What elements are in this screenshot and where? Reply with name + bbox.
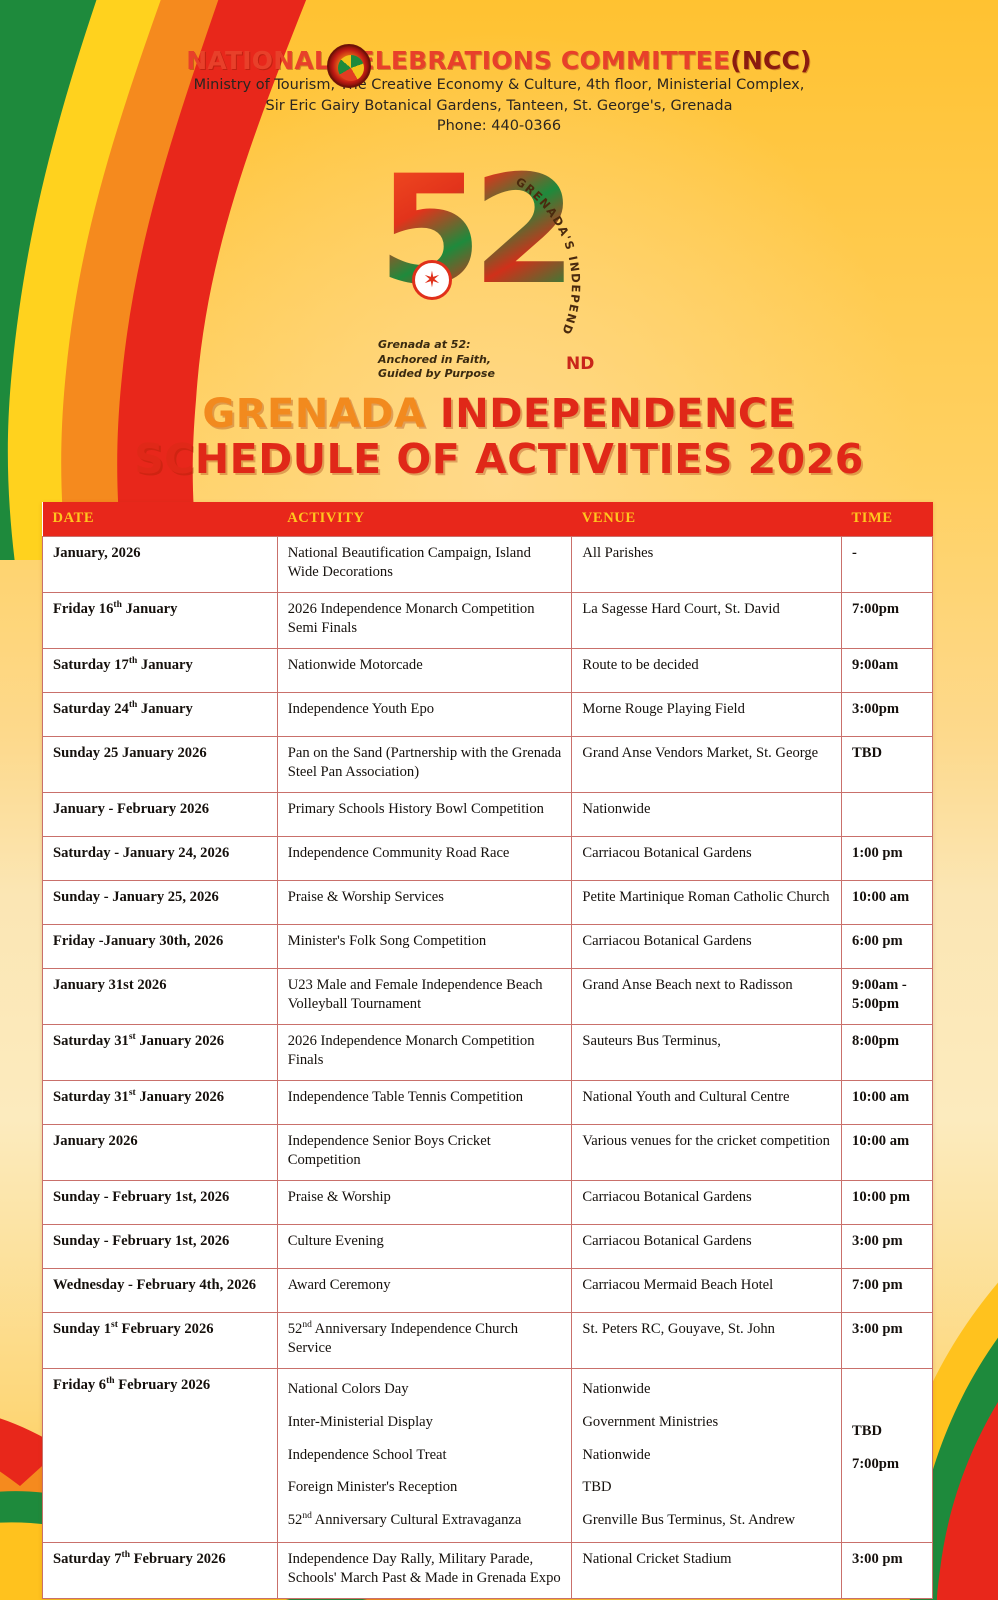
cell-activity: 2026 Independence Monarch Competition Se… — [277, 592, 572, 648]
cell-date: Sunday - January 25, 2026 — [43, 880, 278, 924]
table-row: Sunday - February 1st, 2026Praise & Wors… — [43, 1180, 933, 1224]
column-header-venue: VENUE — [572, 502, 842, 537]
cell-date: Saturday - January 24, 2026 — [43, 836, 278, 880]
venue-item: TBD — [582, 1474, 831, 1507]
cell-time: 6:00 pm — [842, 924, 933, 968]
cell-time: TBD — [842, 736, 933, 792]
cell-venue: All Parishes — [572, 537, 842, 593]
cell-time: 10:00 pm — [842, 1180, 933, 1224]
logo-ordinal: ND — [566, 354, 594, 374]
table-header-row: DATE ACTIVITY VENUE TIME — [43, 502, 933, 537]
table-row-grouped: Friday 6th February 2026National Colors … — [43, 1368, 933, 1543]
cell-activity: Independence Youth Epo — [277, 692, 572, 736]
cell-date: January, 2026 — [43, 537, 278, 593]
date-superscript: th — [113, 600, 121, 610]
cell-venue: Morne Rouge Playing Field — [572, 692, 842, 736]
table-row: Sunday 1st February 202652nd Anniversary… — [43, 1312, 933, 1368]
address-line-1: Ministry of Tourism, The Creative Econom… — [0, 75, 998, 96]
cell-venue: St. Peters RC, Gouyave, St. John — [572, 1312, 842, 1368]
cell-venue: Carriacou Botanical Gardens — [572, 1180, 842, 1224]
anniversary-logo: 52 ✶ GRENADA'S INDEPENDENCE ND Grenada a… — [370, 162, 632, 394]
cell-date: January 31st 2026 — [43, 968, 278, 1024]
cell-date: Saturday 24th January — [43, 692, 278, 736]
venue-item: Government Ministries — [582, 1409, 831, 1442]
cell-date: Sunday 1st February 2026 — [43, 1312, 278, 1368]
activity-item: 52nd Anniversary Cultural Extravaganza — [288, 1507, 562, 1532]
table-row: Saturday 7th February 2026Independence D… — [43, 1543, 933, 1599]
cell-date: Friday 16th January — [43, 592, 278, 648]
ncc-seal-icon — [327, 44, 371, 88]
time-item: 7:00pm — [852, 1451, 922, 1476]
cell-venue: Route to be decided — [572, 648, 842, 692]
logo-tagline: Grenada at 52: Anchored in Faith, Guided… — [378, 338, 498, 382]
table-row: Saturday 17th JanuaryNationwide Motorcad… — [43, 648, 933, 692]
cell-time: - — [842, 537, 933, 593]
table-row: Sunday - February 1st, 2026Culture Eveni… — [43, 1224, 933, 1268]
svg-text:GRENADA'S INDEPENDENCE: GRENADA'S INDEPENDENCE — [506, 168, 583, 337]
activity-item: Independence School Treat — [288, 1442, 562, 1475]
cell-activity: Primary Schools History Bowl Competition — [277, 792, 572, 836]
cell-activity-group: National Colors DayInter-Ministerial Dis… — [277, 1368, 572, 1543]
date-superscript: st — [111, 1320, 118, 1330]
cell-time: 9:00am — [842, 648, 933, 692]
cell-activity: 52nd Anniversary Independence Church Ser… — [277, 1312, 572, 1368]
cell-venue: Carriacou Botanical Gardens — [572, 836, 842, 880]
address-line-2: Sir Eric Gairy Botanical Gardens, Tantee… — [0, 96, 998, 117]
cell-venue: Various venues for the cricket competiti… — [572, 1124, 842, 1180]
date-superscript: st — [129, 1088, 136, 1098]
cell-venue-group: NationwideGovernment MinistriesNationwid… — [572, 1368, 842, 1543]
cell-venue: Petite Martinique Roman Catholic Church — [572, 880, 842, 924]
cell-time: 3:00 pm — [842, 1543, 933, 1599]
cell-venue: National Cricket Stadium — [572, 1543, 842, 1599]
cell-activity: National Beautification Campaign, Island… — [277, 537, 572, 593]
title-independence: INDEPENDENCE — [440, 391, 796, 437]
cell-date: Saturday 17th January — [43, 648, 278, 692]
date-superscript: st — [129, 1032, 136, 1042]
committee-title: NATIONAL CELEBRATIONS COMMITTEE(NCC) — [186, 46, 811, 75]
cell-venue: La Sagesse Hard Court, St. David — [572, 592, 842, 648]
venue-item: Nationwide — [582, 1376, 831, 1409]
cell-date: Saturday 31st January 2026 — [43, 1024, 278, 1080]
table-row: Saturday 31st January 2026Independence T… — [43, 1080, 933, 1124]
cell-date: January 2026 — [43, 1124, 278, 1180]
cell-time: 1:00 pm — [842, 836, 933, 880]
tagline-line-2: Anchored in Faith, — [378, 353, 498, 368]
cell-date: Saturday 31st January 2026 — [43, 1080, 278, 1124]
cell-venue: National Youth and Cultural Centre — [572, 1080, 842, 1124]
poster-header: NATIONAL CELEBRATIONS COMMITTEE(NCC) Min… — [0, 46, 998, 137]
arc-label: GRENADA'S INDEPENDENCE — [506, 168, 583, 337]
cell-venue: Carriacou Mermaid Beach Hotel — [572, 1268, 842, 1312]
date-superscript: th — [122, 1551, 130, 1561]
phone-line: Phone: 440-0366 — [0, 116, 998, 137]
cell-time: 9:00am - 5:00pm — [842, 968, 933, 1024]
date-superscript: th — [129, 700, 137, 710]
cell-date: Friday 6th February 2026 — [43, 1368, 278, 1543]
cell-venue: Carriacou Botanical Gardens — [572, 1224, 842, 1268]
table-row: January 31st 2026U23 Male and Female Ind… — [43, 968, 933, 1024]
time-item: TBD — [852, 1418, 922, 1451]
tagline-line-1: Grenada at 52: — [378, 338, 498, 353]
cell-time: 10:00 am — [842, 1080, 933, 1124]
time-item — [852, 1390, 922, 1404]
cell-venue: Carriacou Botanical Gardens — [572, 924, 842, 968]
table-row: Friday 16th January2026 Independence Mon… — [43, 592, 933, 648]
activity-item: Foreign Minister's Reception — [288, 1474, 562, 1507]
tagline-line-3: Guided by Purpose — [378, 367, 498, 382]
table-row: January 2026Independence Senior Boys Cri… — [43, 1124, 933, 1180]
cell-date: Sunday - February 1st, 2026 — [43, 1180, 278, 1224]
cell-activity: Pan on the Sand (Partnership with the Gr… — [277, 736, 572, 792]
cell-venue: Grand Anse Beach next to Radisson — [572, 968, 842, 1024]
table-row: Wednesday - February 4th, 2026Award Cere… — [43, 1268, 933, 1312]
cell-time: 7:00pm — [842, 592, 933, 648]
cell-date: Saturday 7th February 2026 — [43, 1543, 278, 1599]
schedule-table: DATE ACTIVITY VENUE TIME January, 2026Na… — [42, 502, 933, 1599]
cell-activity: Independence Senior Boys Cricket Competi… — [277, 1124, 572, 1180]
title-line-2: SCHEDULE OF ACTIVITIES 2026 — [0, 437, 998, 483]
table-row: Saturday 24th JanuaryIndependence Youth … — [43, 692, 933, 736]
table-row: Sunday - January 25, 2026Praise & Worshi… — [43, 880, 933, 924]
venue-item: Nationwide — [582, 1442, 831, 1475]
cell-activity: Praise & Worship — [277, 1180, 572, 1224]
table-row: January - February 2026Primary Schools H… — [43, 792, 933, 836]
cell-time: 10:00 am — [842, 1124, 933, 1180]
venue-item: Grenville Bus Terminus, St. Andrew — [582, 1507, 831, 1532]
cell-date: January - February 2026 — [43, 792, 278, 836]
committee-abbrev: (NCC) — [730, 46, 811, 75]
cell-venue: Nationwide — [572, 792, 842, 836]
cell-venue: Grand Anse Vendors Market, St. George — [572, 736, 842, 792]
table-row: Sunday 25 January 2026Pan on the Sand (P… — [43, 736, 933, 792]
cell-time-group: TBD7:00pm — [842, 1368, 933, 1543]
cell-activity: Award Ceremony — [277, 1268, 572, 1312]
cell-time: 3:00 pm — [842, 1312, 933, 1368]
poster-title: GRENADA INDEPENDENCE SCHEDULE OF ACTIVIT… — [0, 392, 998, 483]
cell-time: 7:00 pm — [842, 1268, 933, 1312]
table-row: January, 2026National Beautification Cam… — [43, 537, 933, 593]
cell-venue: Sauteurs Bus Terminus, — [572, 1024, 842, 1080]
table-body: January, 2026National Beautification Cam… — [43, 537, 933, 1599]
cell-activity: Praise & Worship Services — [277, 880, 572, 924]
cell-date: Sunday 25 January 2026 — [43, 736, 278, 792]
cell-date: Friday -January 30th, 2026 — [43, 924, 278, 968]
cell-activity: Culture Evening — [277, 1224, 572, 1268]
cell-activity: U23 Male and Female Independence Beach V… — [277, 968, 572, 1024]
title-line-1: GRENADA INDEPENDENCE — [0, 392, 998, 437]
cell-time — [842, 792, 933, 836]
activity-superscript: nd — [302, 1320, 312, 1330]
cell-activity: 2026 Independence Monarch Competition Fi… — [277, 1024, 572, 1080]
time-item — [852, 1376, 922, 1390]
activity-item: National Colors Day — [288, 1376, 562, 1409]
time-item — [852, 1404, 922, 1418]
cell-activity: Independence Table Tennis Competition — [277, 1080, 572, 1124]
cell-date: Wednesday - February 4th, 2026 — [43, 1268, 278, 1312]
table-row: Friday -January 30th, 2026Minister's Fol… — [43, 924, 933, 968]
cell-activity: Minister's Folk Song Competition — [277, 924, 572, 968]
cell-time: 10:00 am — [842, 880, 933, 924]
cell-activity: Independence Day Rally, Military Parade,… — [277, 1543, 572, 1599]
title-grenada: GRENADA — [202, 391, 425, 437]
cell-activity: Independence Community Road Race — [277, 836, 572, 880]
cell-date: Sunday - February 1st, 2026 — [43, 1224, 278, 1268]
column-header-time: TIME — [842, 502, 933, 537]
cell-time: 8:00pm — [842, 1024, 933, 1080]
date-superscript: th — [129, 656, 137, 666]
column-header-activity: ACTIVITY — [277, 502, 572, 537]
column-header-date: DATE — [43, 502, 278, 537]
flame-icon: ✶ — [412, 260, 452, 300]
date-superscript: th — [106, 1376, 114, 1386]
committee-name: NATIONAL CELEBRATIONS COMMITTEE — [186, 46, 730, 75]
cell-activity: Nationwide Motorcade — [277, 648, 572, 692]
cell-time: 3:00pm — [842, 692, 933, 736]
table-row: Saturday - January 24, 2026Independence … — [43, 836, 933, 880]
activity-item: Inter-Ministerial Display — [288, 1409, 562, 1442]
activity-superscript: nd — [302, 1512, 312, 1522]
table-row: Saturday 31st January 20262026 Independe… — [43, 1024, 933, 1080]
table-header: DATE ACTIVITY VENUE TIME — [43, 502, 933, 537]
cell-time: 3:00 pm — [842, 1224, 933, 1268]
logo-arc-text: GRENADA'S INDEPENDENCE — [506, 168, 636, 348]
